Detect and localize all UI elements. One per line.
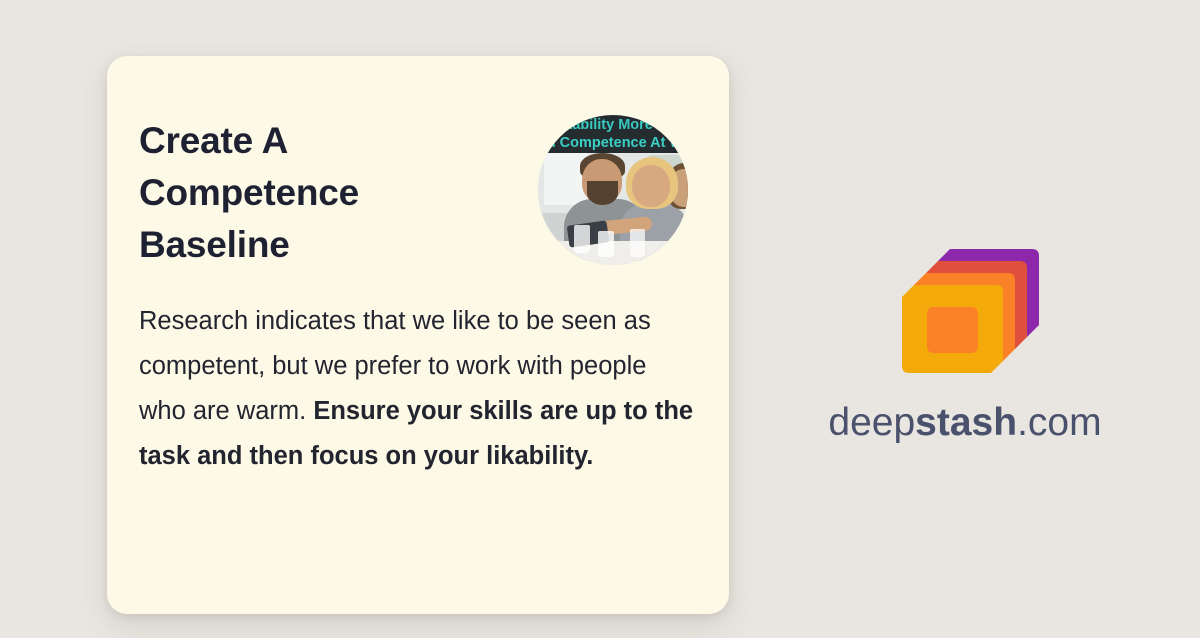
idea-title: Create A Competence Baseline <box>139 115 469 271</box>
source-thumbnail: kability More T n Competence At W <box>538 115 688 265</box>
wordmark-tld: .com <box>1017 401 1102 444</box>
idea-body-text: Research indicates that we like to be se… <box>139 299 699 479</box>
brand-block: deepstash.com <box>800 228 1130 458</box>
thumbnail-overlay-line-1: kability More T <box>538 117 688 135</box>
deepstash-wordmark: deepstash.com <box>800 400 1130 446</box>
thumbnail-overlay-line-2: n Competence At W <box>538 135 688 153</box>
idea-header-row: Create A Competence Baseline <box>139 115 729 275</box>
deepstash-logo-icon <box>893 228 1043 378</box>
wordmark-deep: deep <box>828 401 915 444</box>
thumbnail-overlay-title: kability More T n Competence At W <box>538 117 688 152</box>
idea-card: Create A Competence Baseline <box>107 56 729 614</box>
wordmark-stash: stash <box>915 401 1017 444</box>
idea-card-content: Create A Competence Baseline <box>139 56 729 614</box>
